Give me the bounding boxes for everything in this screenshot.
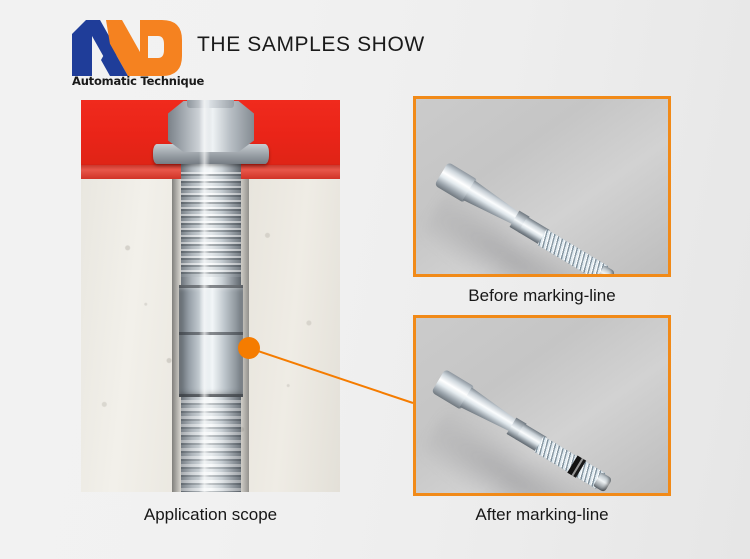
caption-before-marking-line: Before marking-line: [413, 286, 671, 306]
photo-sleeve-top-seam: [179, 285, 243, 288]
caption-after-marking-line: After marking-line: [413, 505, 671, 525]
bolt-image-before: [416, 99, 668, 274]
photo-bolt-stud-end: [187, 100, 234, 108]
logo-wordmark: Automatic Technique: [72, 74, 192, 88]
samples-show-page: Automatic Technique THE SAMPLES SHOW: [0, 0, 750, 559]
bolt-threads: [537, 229, 608, 277]
photo-sleeve-mid-seam: [179, 332, 243, 335]
photo-bolt-expansion-sleeve: [179, 285, 243, 397]
page-title: THE SAMPLES SHOW: [197, 33, 425, 57]
sample-panel-before: [413, 96, 671, 277]
company-logo: Automatic Technique: [70, 18, 192, 90]
caption-application-scope: Application scope: [81, 505, 340, 525]
bolt-image-after: [416, 318, 668, 493]
sample-panel-after: [413, 315, 671, 496]
logo-mark-icon: [70, 18, 192, 78]
photo-sleeve-bottom-seam: [179, 394, 243, 397]
photo-bolt-lower-threads: [181, 400, 241, 492]
application-scope-photo: [81, 100, 340, 492]
photo-bolt-upper-threads: [181, 172, 241, 277]
anchor-bolt: [430, 368, 615, 496]
page-header: Automatic Technique THE SAMPLES SHOW: [0, 0, 750, 95]
anchor-bolt: [433, 161, 618, 277]
